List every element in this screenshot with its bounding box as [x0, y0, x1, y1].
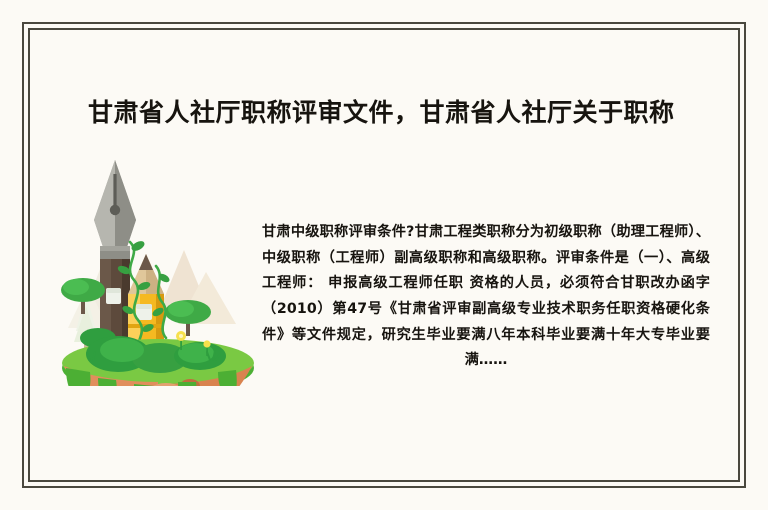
island-illustration-svg [60, 146, 260, 386]
poster-page: 甘肃省人社厅职称评审文件，甘肃省人社厅关于职称 [0, 0, 768, 510]
poster-content: 甘肃省人社厅职称评审文件，甘肃省人社厅关于职称 [28, 28, 740, 482]
article-body: 甘肃中级职称评审条件?甘肃工程类职称分为初级职称（助理工程师）、中级职称（工程师… [262, 220, 710, 374]
fountain-pen-nib [94, 160, 136, 259]
floating-island-illustration [60, 146, 260, 386]
page-title: 甘肃省人社厅职称评审文件，甘肃省人社厅关于职称 [88, 93, 675, 129]
